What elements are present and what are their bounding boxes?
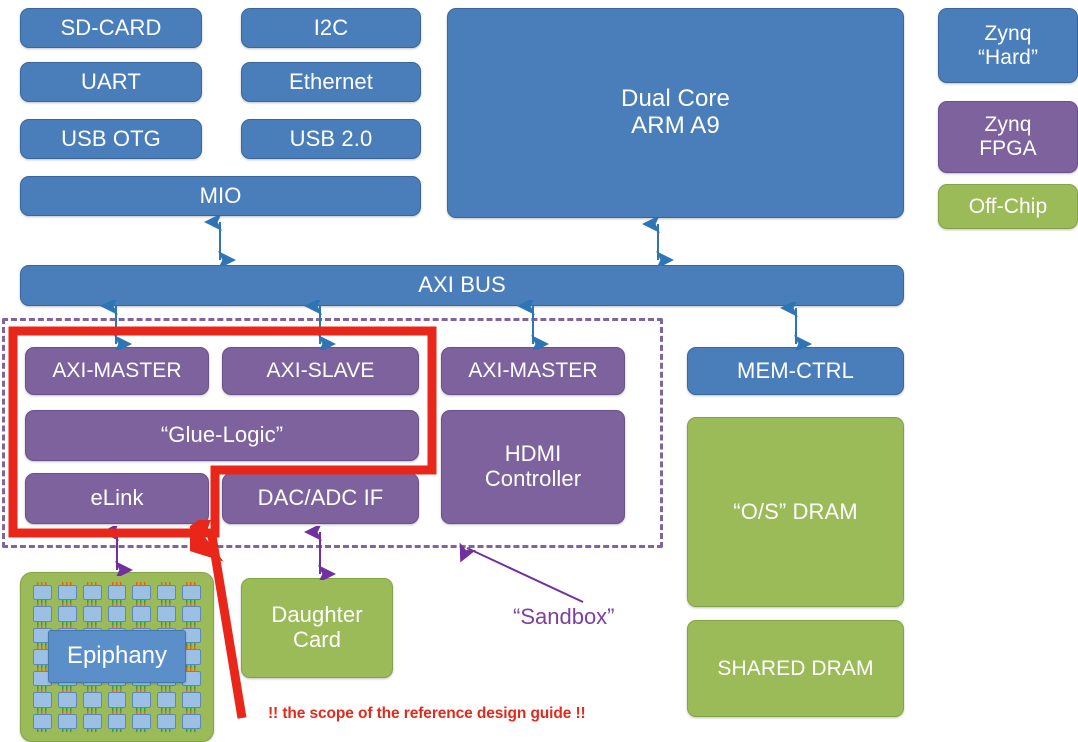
block-ethernet[interactable]: Ethernet bbox=[241, 62, 421, 102]
block-mem-ctrl[interactable]: MEM-CTRL bbox=[687, 347, 904, 395]
legend-zynq-hard: Zynq “Hard” bbox=[938, 8, 1078, 83]
epiphany-core bbox=[33, 714, 52, 729]
block-usb-otg[interactable]: USB OTG bbox=[20, 119, 202, 159]
block-epiphany-chip[interactable]: Epiphany bbox=[20, 572, 214, 742]
epiphany-core bbox=[108, 692, 127, 707]
block-mio[interactable]: MIO bbox=[20, 176, 421, 216]
legend-zynq-fpga: Zynq FPGA bbox=[938, 101, 1078, 173]
block-os-dram[interactable]: “O/S” DRAM bbox=[687, 417, 904, 607]
epiphany-core bbox=[182, 585, 201, 600]
block-shared-dram[interactable]: SHARED DRAM bbox=[687, 620, 904, 717]
block-dac-adc-if[interactable]: DAC/ADC IF bbox=[222, 473, 419, 524]
epiphany-core bbox=[132, 692, 151, 707]
epiphany-core bbox=[157, 606, 176, 621]
epiphany-core bbox=[157, 714, 176, 729]
epiphany-core bbox=[157, 585, 176, 600]
epiphany-core bbox=[83, 585, 102, 600]
epiphany-label: Epiphany bbox=[48, 630, 186, 682]
block-axi-master-left[interactable]: AXI-MASTER bbox=[25, 347, 209, 395]
sandbox-label: “Sandbox” bbox=[513, 604, 615, 630]
block-daughter-card[interactable]: Daughter Card bbox=[241, 578, 393, 678]
epiphany-core bbox=[108, 585, 127, 600]
sandbox-callout-arrow bbox=[455, 540, 595, 610]
epiphany-core bbox=[182, 606, 201, 621]
block-glue-logic[interactable]: “Glue-Logic” bbox=[25, 410, 419, 461]
arrow-mio-to-axi bbox=[200, 216, 240, 266]
block-sd-card[interactable]: SD-CARD bbox=[20, 8, 202, 48]
epiphany-core bbox=[58, 606, 77, 621]
scope-caption: !! the scope of the reference design gui… bbox=[268, 705, 586, 723]
epiphany-core bbox=[58, 585, 77, 600]
epiphany-core bbox=[83, 606, 102, 621]
arrow-cpu-to-axi bbox=[638, 218, 678, 266]
block-axi-master-right[interactable]: AXI-MASTER bbox=[441, 347, 625, 395]
epiphany-core bbox=[83, 692, 102, 707]
epiphany-core bbox=[58, 692, 77, 707]
epiphany-core bbox=[182, 714, 201, 729]
block-axi-slave[interactable]: AXI-SLAVE bbox=[222, 347, 419, 395]
block-uart[interactable]: UART bbox=[20, 62, 202, 102]
epiphany-core bbox=[132, 714, 151, 729]
epiphany-core bbox=[108, 606, 127, 621]
epiphany-core bbox=[83, 714, 102, 729]
block-i2c[interactable]: I2C bbox=[241, 8, 421, 48]
epiphany-core bbox=[108, 714, 127, 729]
epiphany-core bbox=[33, 606, 52, 621]
block-usb-2-0[interactable]: USB 2.0 bbox=[241, 119, 421, 159]
block-axi-bus[interactable]: AXI BUS bbox=[20, 265, 904, 306]
epiphany-core bbox=[33, 692, 52, 707]
epiphany-core bbox=[182, 692, 201, 707]
epiphany-core bbox=[33, 585, 52, 600]
block-elink[interactable]: eLink bbox=[25, 473, 209, 524]
block-diagram-canvas: SD-CARD UART USB OTG I2C Ethernet USB 2.… bbox=[0, 0, 1078, 742]
arrow-axi-to-mem-ctrl bbox=[776, 302, 816, 350]
block-dual-core-arm-a9[interactable]: Dual Core ARM A9 bbox=[447, 8, 904, 218]
block-hdmi-controller[interactable]: HDMI Controller bbox=[441, 410, 625, 524]
legend-off-chip: Off-Chip bbox=[938, 184, 1078, 229]
epiphany-core bbox=[132, 606, 151, 621]
epiphany-core bbox=[58, 714, 77, 729]
epiphany-core bbox=[157, 692, 176, 707]
epiphany-core bbox=[132, 585, 151, 600]
